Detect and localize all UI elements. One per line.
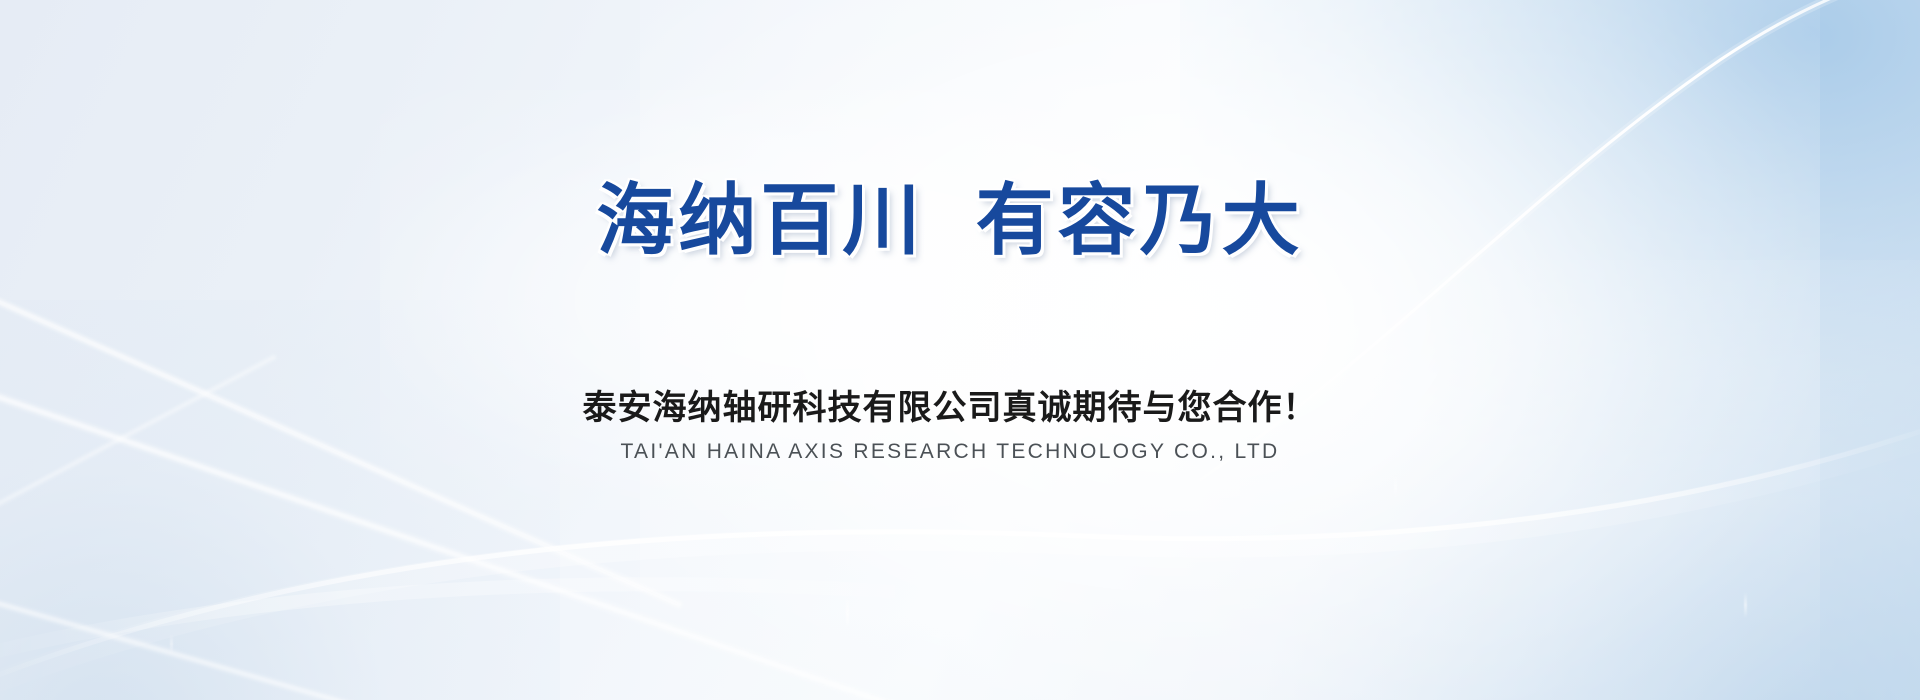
banner-content: 海纳百川 有容乃大 泰安海纳轴研科技有限公司真诚期待与您合作！ TAI'AN H… — [0, 0, 1920, 700]
hero-banner: 海纳百川 有容乃大 泰安海纳轴研科技有限公司真诚期待与您合作！ TAI'AN H… — [0, 0, 1920, 700]
banner-headline: 海纳百川 有容乃大 — [0, 178, 1900, 262]
banner-subtitle-chinese: 泰安海纳轴研科技有限公司真诚期待与您合作！ — [0, 380, 1900, 429]
banner-subtitle-english: TAI'AN HAINA AXIS RESEARCH TECHNOLOGY CO… — [0, 440, 1900, 464]
